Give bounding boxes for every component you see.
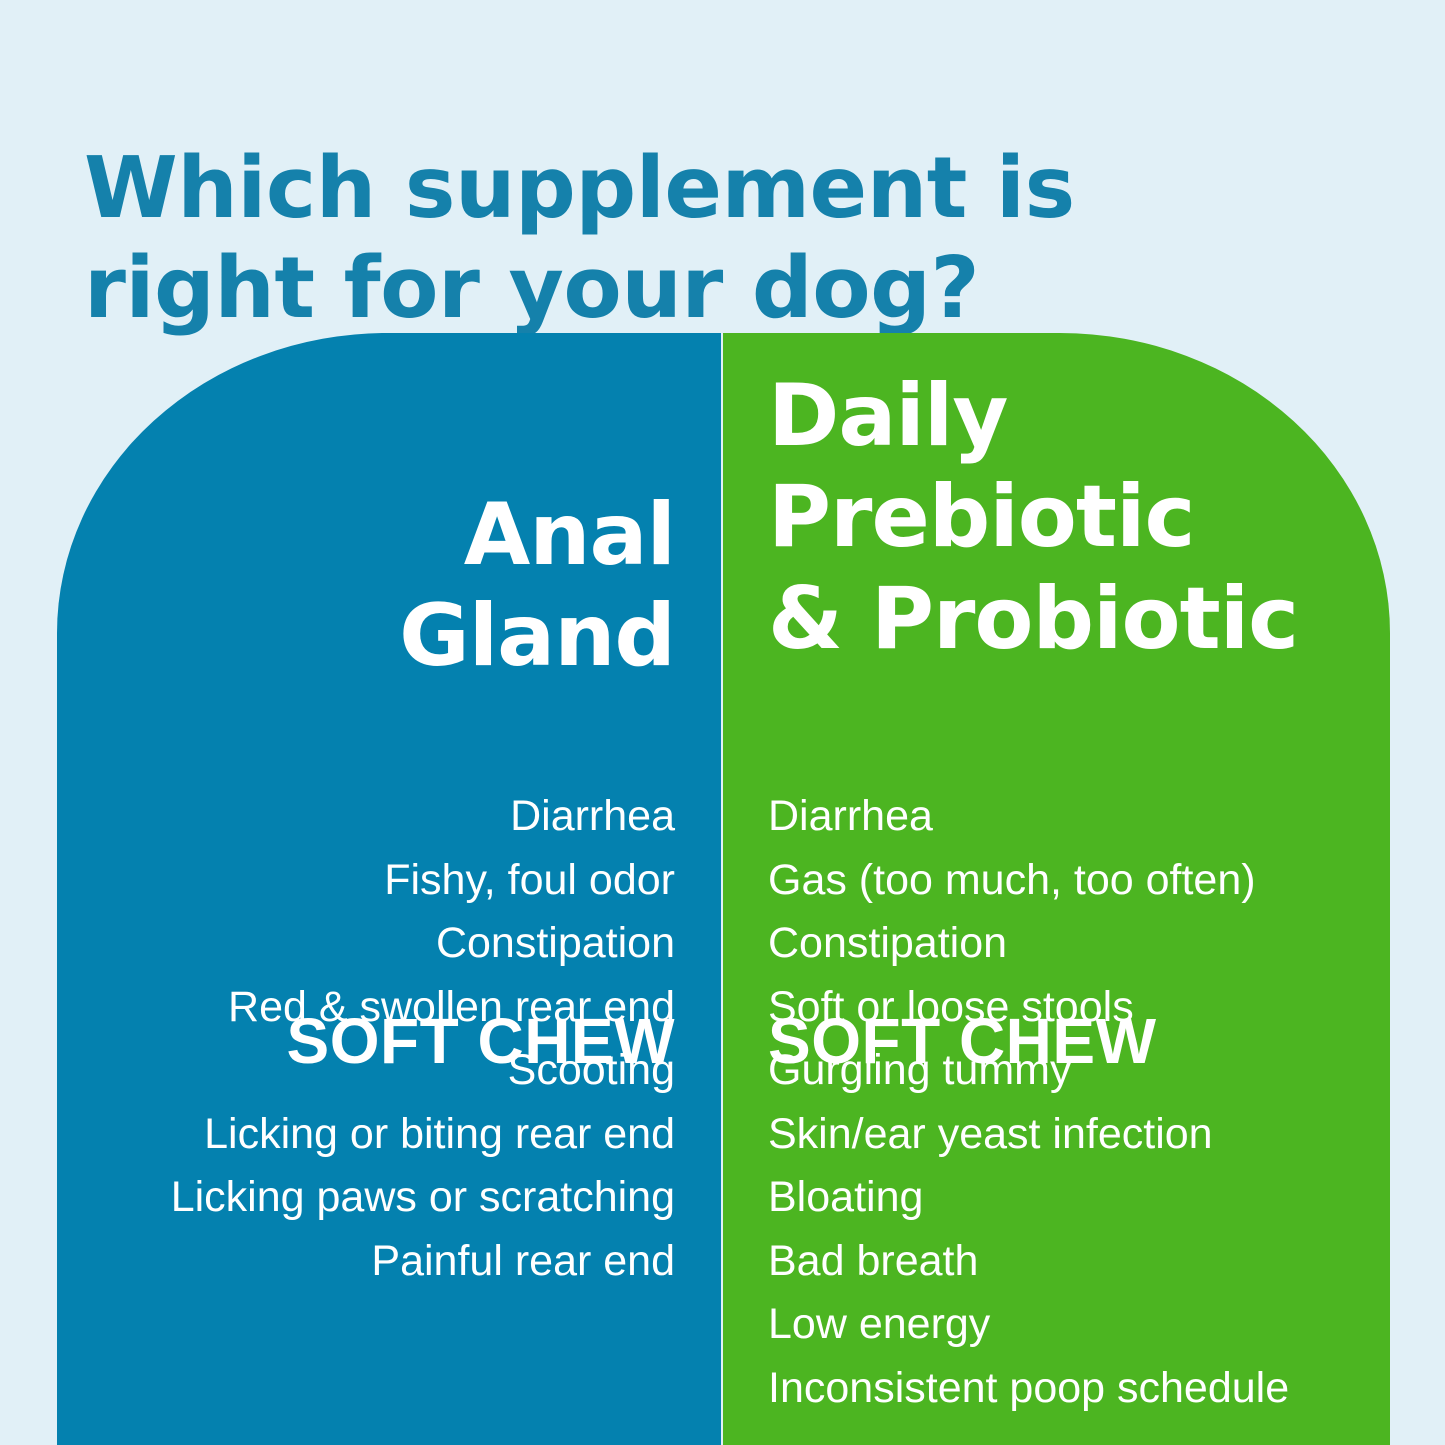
comparison-panels: Anal Gland SOFT CHEW DiarrheaFishy, foul…	[57, 333, 1390, 1445]
symptom-item: Red & swollen rear end	[75, 976, 675, 1040]
symptom-item: Licking or biting rear end	[75, 1103, 675, 1167]
symptom-item: Soft or loose stools	[768, 976, 1388, 1040]
symptom-list-left: DiarrheaFishy, foul odorConstipationRed …	[75, 785, 675, 1293]
symptom-item: Bad breath	[768, 1230, 1388, 1294]
symptom-list-right: DiarrheaGas (too much, too often)Constip…	[768, 785, 1388, 1420]
symptom-item: Scooting	[75, 1039, 675, 1103]
symptom-item: Diarrhea	[75, 785, 675, 849]
symptom-item: Fishy, foul odor	[75, 849, 675, 913]
symptom-item: Low energy	[768, 1293, 1388, 1357]
symptom-item: Skin/ear yeast infection	[768, 1103, 1388, 1167]
panel-daily-prebiotic-probiotic: Daily Prebiotic & Probiotic SOFT CHEW Di…	[723, 333, 1390, 1445]
page-title: Which supplement is right for your dog?	[84, 139, 1204, 340]
symptom-item: Licking paws or scratching	[75, 1166, 675, 1230]
symptom-item: Diarrhea	[768, 785, 1388, 849]
symptom-item: Constipation	[768, 912, 1388, 976]
symptom-item: Gas (too much, too often)	[768, 849, 1388, 913]
panel-anal-gland: Anal Gland SOFT CHEW DiarrheaFishy, foul…	[57, 333, 721, 1445]
symptom-item: Inconsistent poop schedule	[768, 1357, 1388, 1421]
panel-left-heading: Anal Gland	[75, 485, 675, 688]
symptom-item: Bloating	[768, 1166, 1388, 1230]
symptom-item: Gurgling tummy	[768, 1039, 1388, 1103]
symptom-item: Constipation	[75, 912, 675, 976]
panel-right-heading: Daily Prebiotic & Probiotic	[768, 366, 1378, 670]
infographic-canvas: Which supplement is right for your dog? …	[0, 0, 1445, 1445]
symptom-item: Painful rear end	[75, 1230, 675, 1294]
